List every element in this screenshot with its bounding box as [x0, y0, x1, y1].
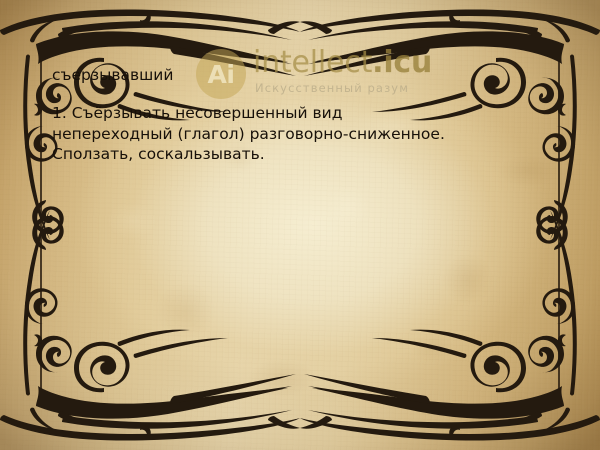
entry-headword: съерзывавший	[52, 66, 552, 85]
definition-line: непереходный (глагол) разговорно-сниженн…	[52, 124, 552, 145]
entry-definition: 1. Съёрзывать несовершенный вид неперехо…	[52, 103, 552, 165]
definition-line: Сползать, соскальзывать.	[52, 144, 552, 165]
dictionary-entry: съерзывавший 1. Съёрзывать несовершенный…	[52, 66, 552, 165]
definition-line: 1. Съёрзывать несовершенный вид	[52, 103, 552, 124]
parchment-page: Ai intellect.icu Искусственный разум съе…	[0, 0, 600, 450]
